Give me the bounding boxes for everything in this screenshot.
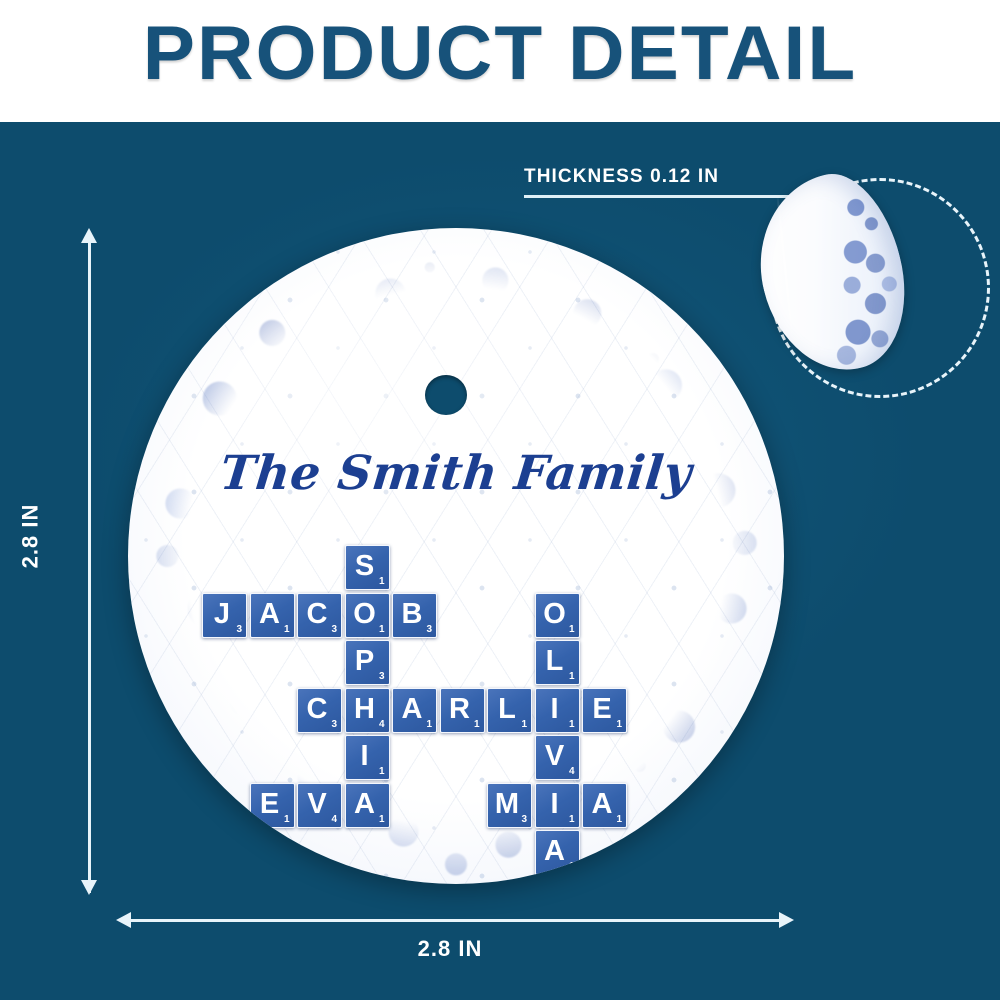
- letter-tile-c: C3: [297, 688, 342, 733]
- width-label: 2.8 IN: [0, 936, 900, 962]
- letter-tile-i: I1: [535, 688, 580, 733]
- tile-score: 4: [331, 815, 337, 825]
- width-dimension-line: [130, 919, 780, 922]
- letter-tile-a: A1: [392, 688, 437, 733]
- thickness-inset: [762, 170, 998, 406]
- tile-score: 3: [236, 625, 242, 635]
- letter-tile-j: J3: [202, 593, 247, 638]
- letter-tile-m: M3: [487, 783, 532, 828]
- crossword-grid: S1J3A1C3O1B3O1P3L1C3H4A1R1L1I1E1I1V4E1V4…: [128, 228, 784, 884]
- letter-tile-i: I1: [345, 735, 390, 780]
- letter-tile-a: A1: [582, 783, 627, 828]
- ornament-product: The Smith Family S1J3A1C3O1B3O1P3L1C3H4A…: [128, 228, 784, 884]
- letter-tile-i: I1: [535, 783, 580, 828]
- product-stage: THICKNESS 0.12 IN The Smith Family S1J3A…: [0, 128, 1000, 1000]
- tile-score: 3: [331, 625, 337, 635]
- tile-score: 3: [379, 672, 385, 682]
- tile-score: 1: [379, 577, 385, 587]
- tile-score: 1: [379, 767, 385, 777]
- letter-tile-v: V4: [297, 783, 342, 828]
- width-arrow-left: [116, 912, 131, 928]
- letter-tile-p: P3: [345, 640, 390, 685]
- letter-tile-l: L1: [487, 688, 532, 733]
- letter-tile-c: C3: [297, 593, 342, 638]
- letter-tile-a: A1: [345, 783, 390, 828]
- page-title: PRODUCT DETAIL: [0, 16, 1000, 92]
- tile-score: 1: [569, 672, 575, 682]
- tile-score: 4: [379, 720, 385, 730]
- tile-score: 1: [379, 815, 385, 825]
- tile-score: 1: [379, 625, 385, 635]
- letter-tile-o: O1: [345, 593, 390, 638]
- tile-score: 1: [284, 815, 290, 825]
- width-arrow-right: [779, 912, 794, 928]
- tile-score: 3: [331, 720, 337, 730]
- letter-tile-e: E1: [582, 688, 627, 733]
- tile-score: 1: [616, 720, 622, 730]
- letter-tile-h: H4: [345, 688, 390, 733]
- tile-score: 1: [569, 720, 575, 730]
- tile-score: 1: [284, 625, 290, 635]
- letter-tile-v: V4: [535, 735, 580, 780]
- tile-score: 1: [521, 720, 527, 730]
- tile-score: 4: [569, 767, 575, 777]
- height-dimension-line: [88, 238, 91, 893]
- tile-score: 1: [569, 862, 575, 872]
- tile-score: 3: [426, 625, 432, 635]
- letter-tile-o: O1: [535, 593, 580, 638]
- letter-tile-b: B3: [392, 593, 437, 638]
- tile-score: 1: [616, 815, 622, 825]
- letter-tile-r: R1: [440, 688, 485, 733]
- tile-score: 3: [521, 815, 527, 825]
- height-arrow-bottom: [81, 880, 97, 895]
- tile-score: 1: [426, 720, 432, 730]
- tile-score: 1: [474, 720, 480, 730]
- letter-tile-l: L1: [535, 640, 580, 685]
- height-label: 2.8 IN: [17, 504, 43, 569]
- tile-score: 1: [569, 625, 575, 635]
- letter-tile-e: E1: [250, 783, 295, 828]
- letter-tile-a: A1: [535, 830, 580, 875]
- header-band: PRODUCT DETAIL: [0, 0, 1000, 122]
- tile-score: 1: [569, 815, 575, 825]
- letter-tile-s: S1: [345, 545, 390, 590]
- letter-tile-a: A1: [250, 593, 295, 638]
